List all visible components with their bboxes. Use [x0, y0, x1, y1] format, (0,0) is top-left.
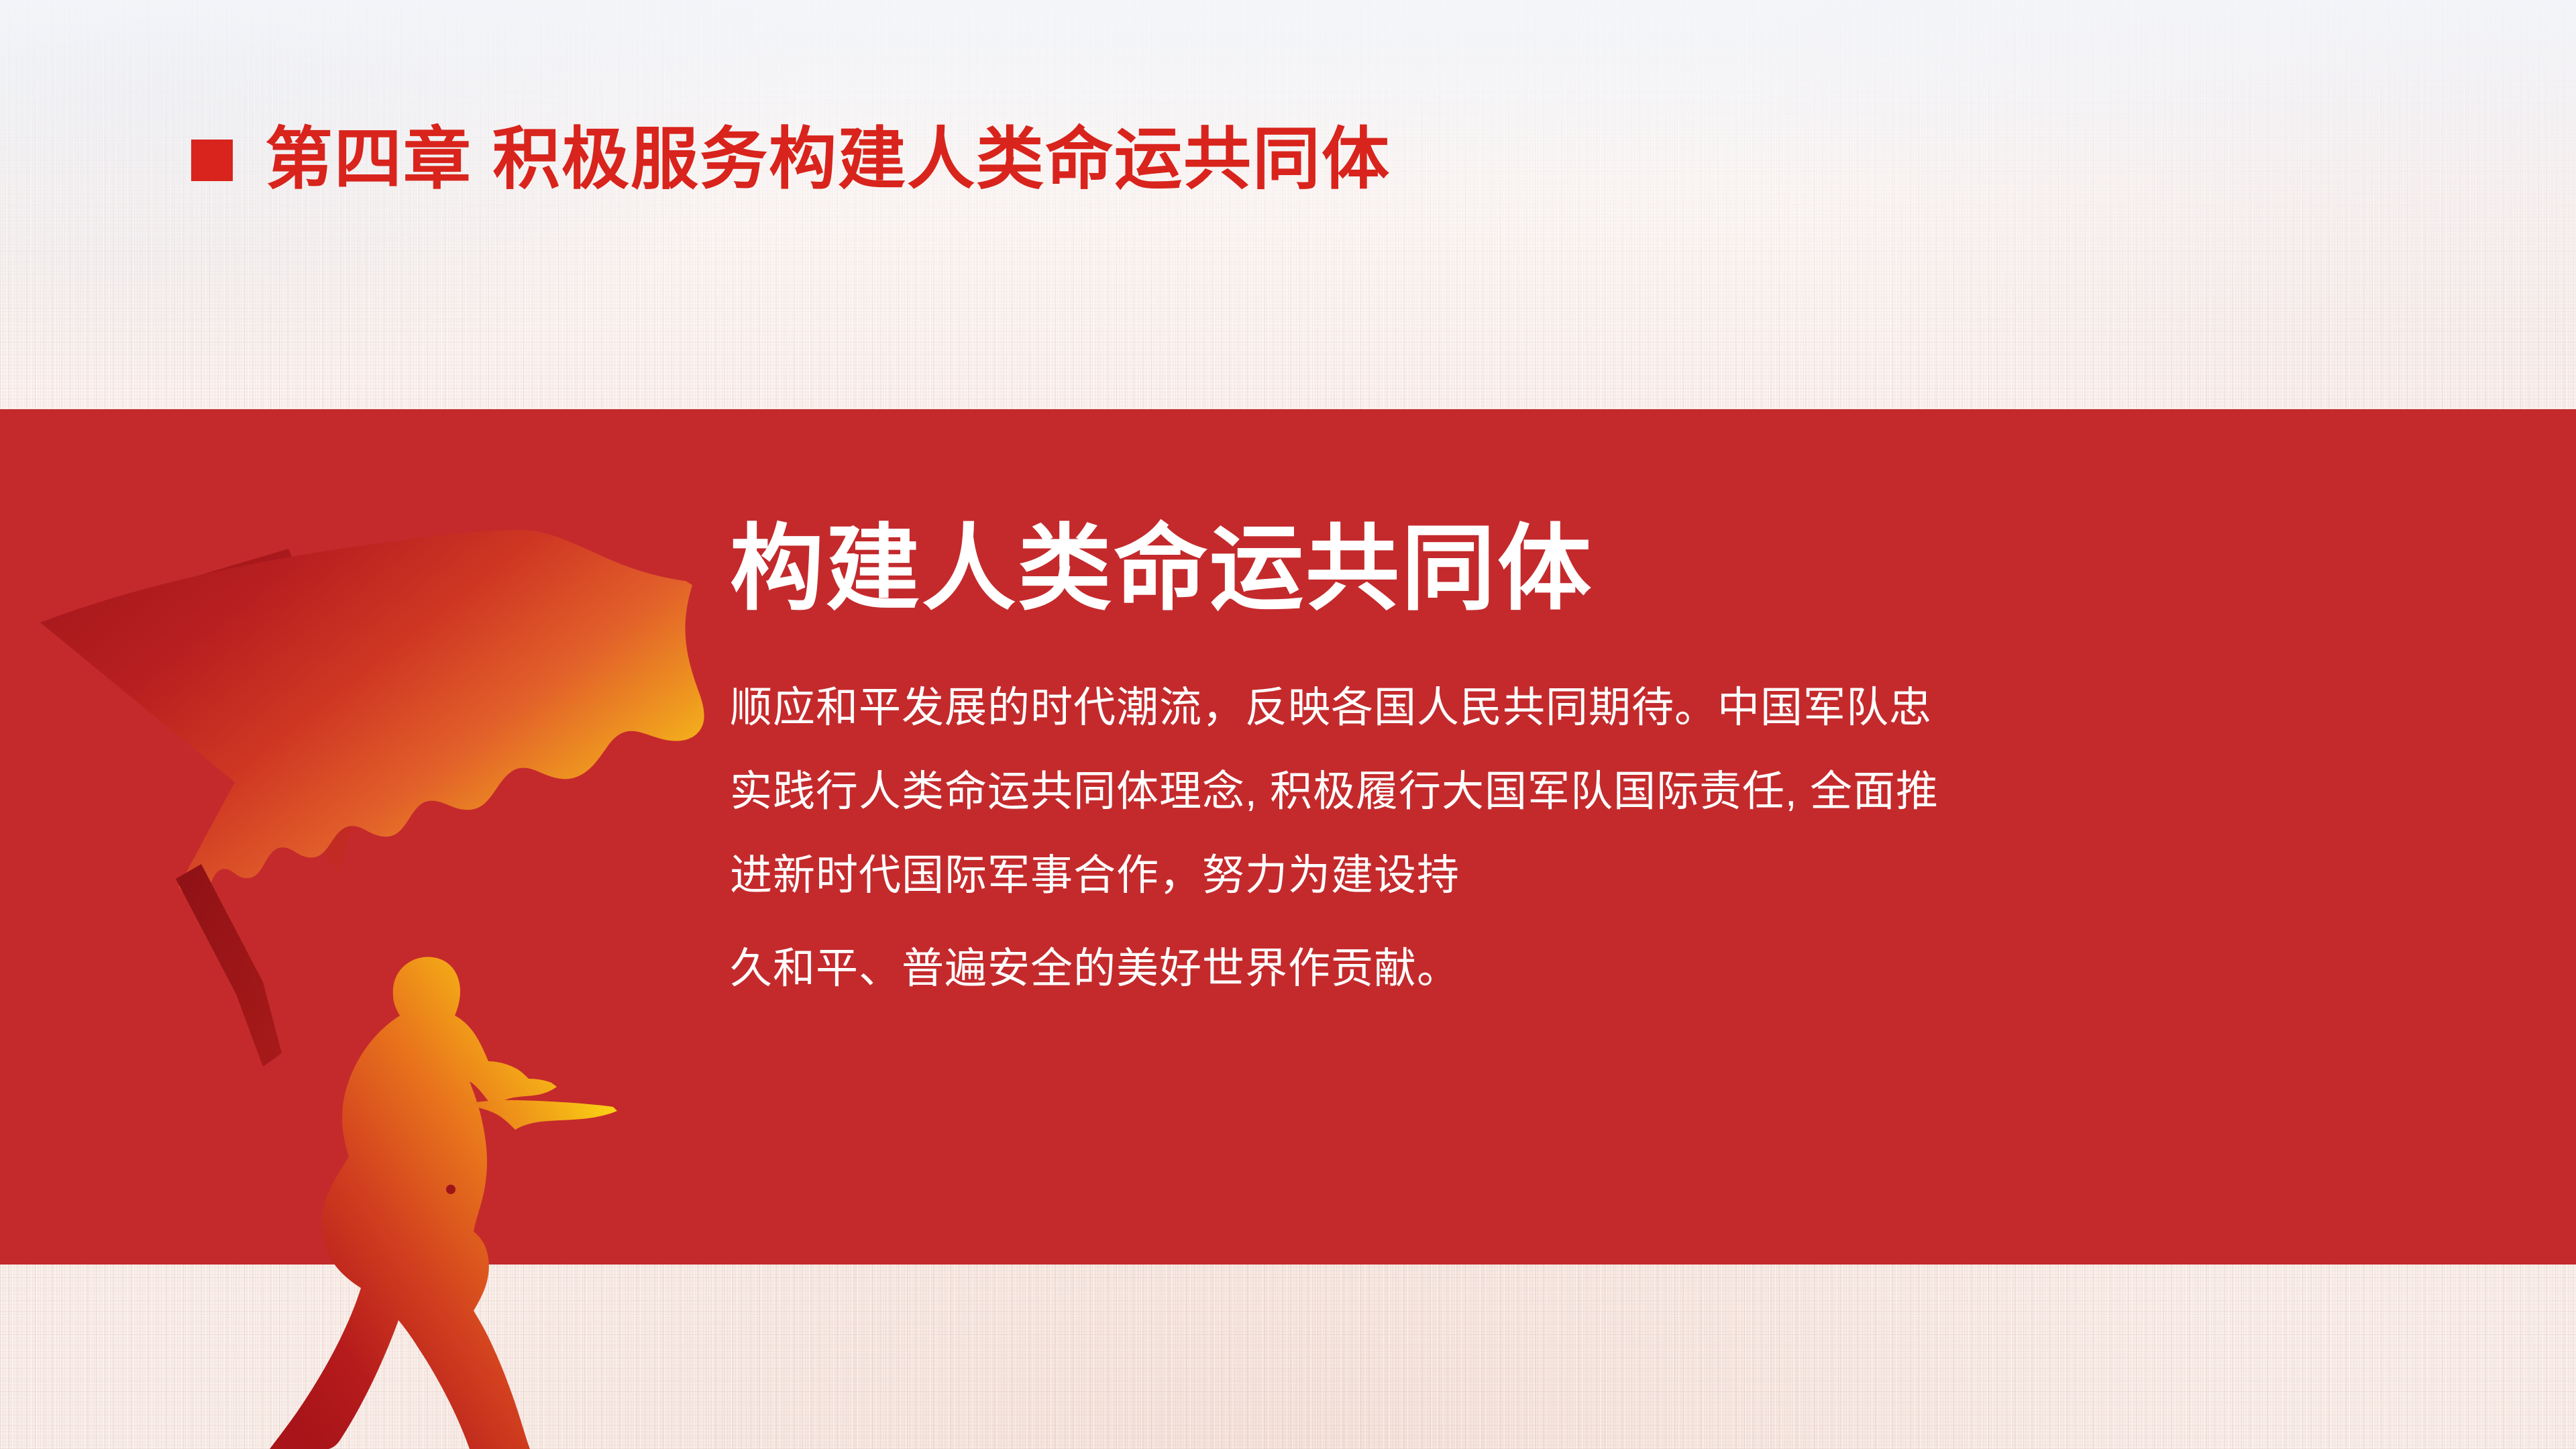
- main-heading: 构建人类命运共同体: [730, 517, 2353, 622]
- body-line: 久和平、普遍安全的美好世界作贡献。: [730, 927, 2353, 1011]
- background-top-fade: [0, 0, 2576, 416]
- body-paragraph: 顺应和平发展的时代潮流，反映各国人民共同期待。中国军队忠 实践行人类命运共同体理…: [730, 666, 2353, 1011]
- body-line: 实践行人类命运共同体理念, 积极履行大国军队国际责任, 全面推: [730, 750, 2353, 834]
- body-line: 顺应和平发展的时代潮流，反映各国人民共同期待。中国军队忠: [730, 666, 2353, 750]
- page-title: 第四章 积极服务构建人类命运共同体: [265, 126, 1391, 194]
- slide-root: 第四章 积极服务构建人类命运共同体: [0, 0, 2576, 1449]
- body-line: 进新时代国际军事合作，努力为建设持: [730, 834, 2353, 918]
- chapter-header: 第四章 积极服务构建人类命运共同体: [191, 126, 1391, 194]
- square-bullet-icon: [191, 140, 233, 181]
- content-block: 构建人类命运共同体 顺应和平发展的时代潮流，反映各国人民共同期待。中国军队忠 实…: [730, 517, 2353, 1011]
